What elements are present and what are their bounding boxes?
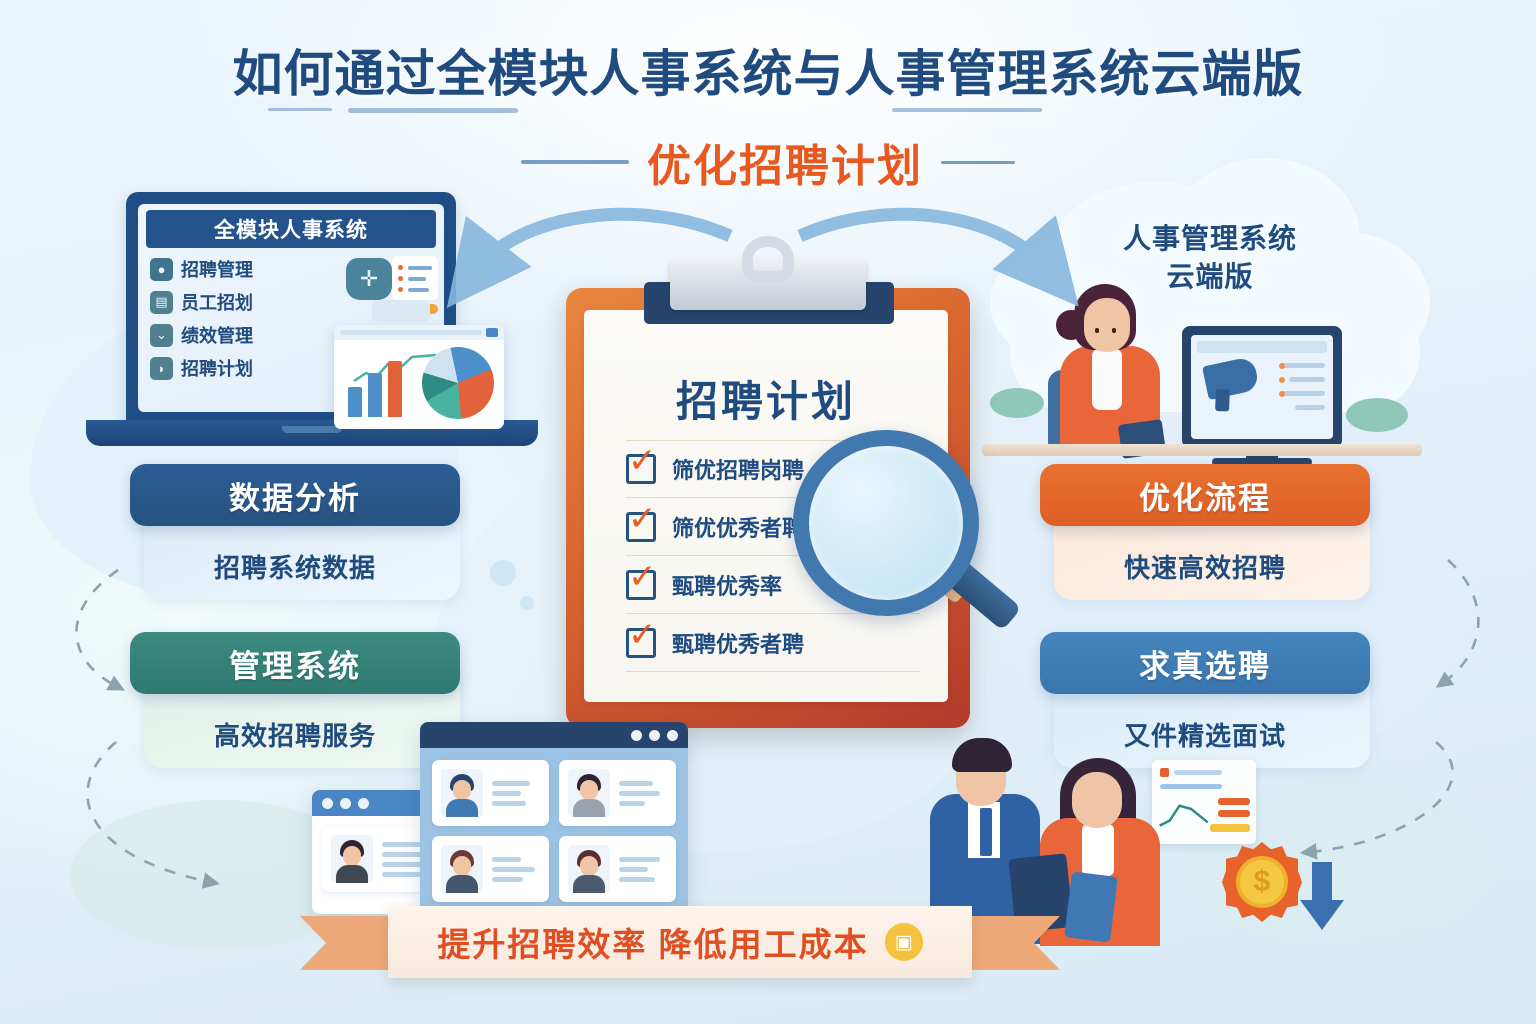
bg-bubble-2 — [520, 596, 534, 610]
desk-surface — [982, 444, 1422, 456]
page-subtitle: 优化招聘计划 — [647, 130, 923, 194]
man-tie — [980, 808, 992, 856]
checkbox-checked-icon[interactable] — [626, 628, 656, 658]
coin-center: $ — [1236, 856, 1288, 908]
menu-label: 员工招划 — [181, 289, 253, 315]
checklist-label: 甄聘优秀率 — [672, 569, 782, 601]
card-title: 优化流程 — [1139, 473, 1271, 518]
candidate-info-lines — [619, 845, 667, 893]
menu-label: 招聘管理 — [181, 256, 253, 282]
page-title: 如何通过全模块人事系统与人事管理系统云端版 — [0, 34, 1536, 106]
candidate-card[interactable] — [559, 760, 676, 826]
chevron-down-icon: ⌄ — [150, 324, 173, 347]
woman-shirt — [1092, 348, 1122, 410]
avatar — [441, 845, 483, 893]
megaphone-icon — [1202, 356, 1260, 400]
clipboard-title: 招聘计划 — [584, 368, 948, 429]
hr-badge-icon — [346, 258, 392, 300]
avatar — [568, 845, 610, 893]
candidate-card[interactable] — [432, 760, 549, 826]
arrow-down-icon — [1300, 862, 1344, 932]
ribbon-text: 提升招聘效率 降低用工成本 — [437, 918, 868, 966]
gear-coin-icon: $ — [1222, 842, 1302, 922]
menu-pill — [372, 300, 430, 322]
menu-label: 招聘计划 — [181, 355, 253, 381]
desktop-monitor — [1182, 326, 1342, 448]
woman2-face — [1072, 772, 1122, 828]
bg-bubble-1 — [490, 560, 516, 586]
app-title: 全模块人事系统 — [214, 214, 368, 244]
candidate-info-lines — [619, 769, 667, 817]
candidate-card[interactable] — [432, 836, 549, 902]
man-hair — [952, 738, 1012, 772]
bar-chart — [348, 359, 402, 417]
checklist-label: 筛优招聘岗聘 — [672, 453, 804, 485]
card-pill: 数据分析 — [130, 464, 460, 526]
card-subtitle: 招聘系统数据 — [130, 548, 460, 585]
divider-left — [521, 160, 629, 164]
checklist-label: 甄聘优秀者聘 — [672, 627, 804, 659]
chart-card-toolbar — [334, 325, 504, 340]
woman2-shirt — [1082, 824, 1114, 876]
app-title-bar: 全模块人事系统 — [146, 210, 436, 248]
monitor-screen — [1191, 335, 1333, 439]
analytics-chart-card — [334, 325, 504, 429]
feature-card-data-analysis[interactable]: 数据分析 招聘系统数据 — [130, 464, 460, 585]
card-title: 求真选聘 — [1139, 641, 1271, 686]
candidate-grid — [420, 748, 688, 912]
card-pill: 优化流程 — [1040, 464, 1370, 526]
card-subtitle: 高效招聘服务 — [130, 716, 460, 753]
checklist-label: 筛优优秀者聘 — [672, 511, 804, 543]
cloud-illustration: 人事管理系统 云端版 — [990, 172, 1430, 472]
menu-label: 绩效管理 — [181, 322, 253, 348]
checkbox-checked-icon[interactable] — [626, 512, 656, 542]
woman-hair-bun — [1056, 310, 1086, 340]
window-titlebar — [420, 722, 688, 748]
woman-at-desk — [1054, 284, 1174, 454]
pie-chart — [422, 347, 494, 419]
coin-icon: ▣ — [885, 923, 923, 961]
mini-report-card — [1152, 760, 1256, 844]
feature-card-optimize-process[interactable]: 优化流程 快速高效招聘 — [1040, 464, 1370, 585]
candidate-card[interactable] — [559, 836, 676, 902]
held-tablet — [1064, 871, 1118, 942]
checkbox-checked-icon[interactable] — [626, 454, 656, 484]
bush-icon — [990, 388, 1044, 418]
bush-icon — [1346, 398, 1408, 432]
woman-face — [1084, 298, 1130, 352]
play-icon: ◗ — [150, 357, 173, 380]
cloud-title-line1: 人事管理系统 — [990, 220, 1430, 258]
inbox-icon: ▤ — [150, 291, 173, 314]
feature-card-management-system[interactable]: 管理系统 高效招聘服务 — [130, 632, 460, 753]
card-title: 管理系统 — [229, 641, 361, 686]
laptop-trackpad-notch — [282, 426, 342, 433]
candidate-info-lines — [492, 845, 540, 893]
avatar — [441, 769, 483, 817]
candidate-info-lines — [492, 769, 540, 817]
clipboard-ring — [742, 236, 794, 282]
avatar — [331, 835, 373, 883]
candidate-list-window-front — [420, 722, 688, 912]
trend-line-icon — [1158, 794, 1216, 834]
pin-icon: ● — [150, 258, 173, 281]
card-pill: 管理系统 — [130, 632, 460, 694]
card-title: 数据分析 — [229, 473, 361, 518]
card-subtitle: 又件精选面试 — [1040, 716, 1370, 753]
divider-right — [941, 161, 1015, 164]
checkbox-checked-icon[interactable] — [626, 570, 656, 600]
card-subtitle: 快速高效招聘 — [1040, 548, 1370, 585]
feature-card-selection[interactable]: 求真选聘 又件精选面试 — [1040, 632, 1370, 753]
mini-list-widget — [392, 256, 438, 300]
avatar — [568, 769, 610, 817]
infographic-canvas: 如何通过全模块人事系统与人事管理系统云端版 优化招聘计划 全模块人事系统 ● 招… — [0, 0, 1536, 1024]
title-divider — [0, 106, 1536, 116]
bottom-ribbon: 提升招聘效率 降低用工成本 ▣ — [300, 906, 1060, 980]
card-pill: 求真选聘 — [1040, 632, 1370, 694]
laptop-illustration: 全模块人事系统 ● 招聘管理 ▤ 员工招划 ⌄ 绩效管理 — [86, 192, 538, 454]
ribbon-body: 提升招聘效率 降低用工成本 ▣ — [388, 906, 972, 978]
magnifier-lens-icon — [793, 430, 979, 616]
magnifier-illustration — [793, 430, 1003, 640]
